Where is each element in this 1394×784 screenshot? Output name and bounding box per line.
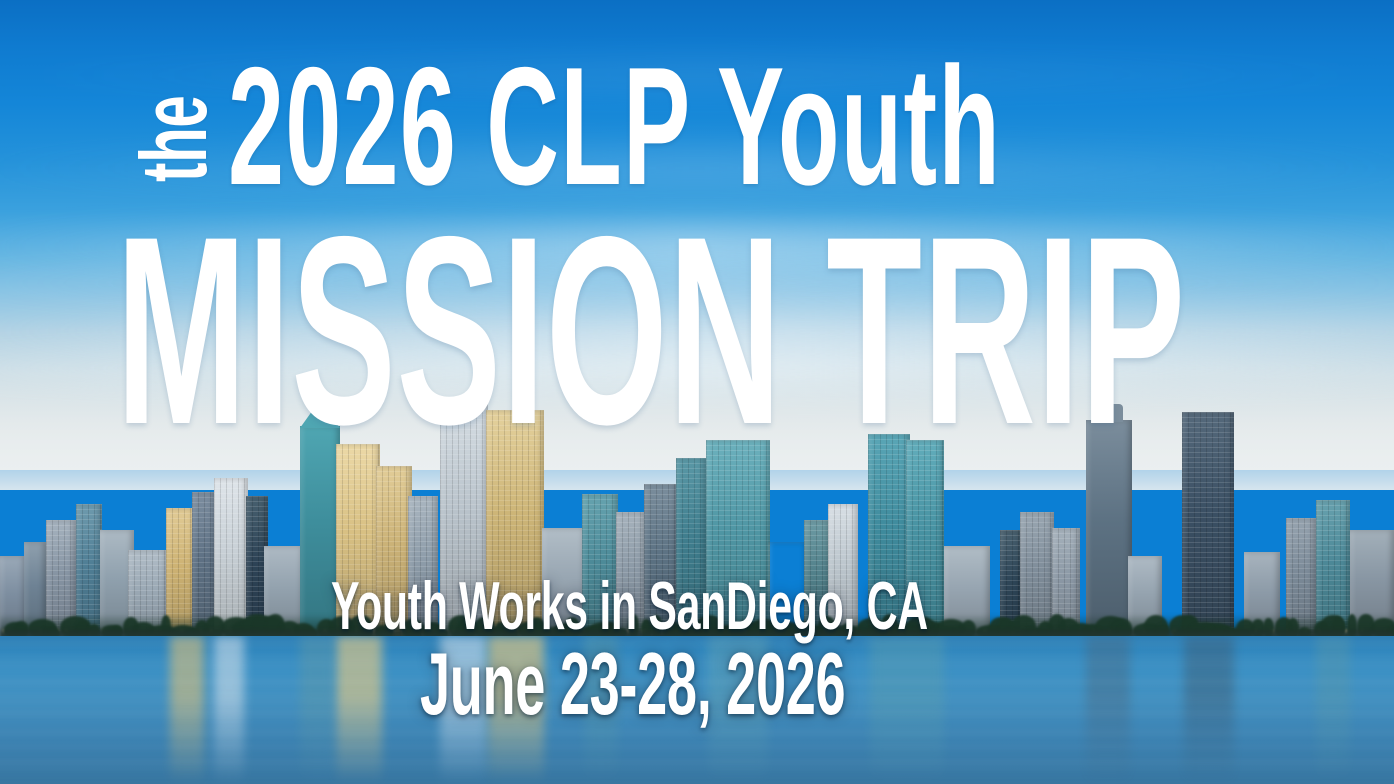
water-ripple <box>0 742 1394 746</box>
water-ripple <box>0 746 1394 749</box>
water-ripple <box>0 769 1394 772</box>
detail-location: Youth Works in SanDiego, CA <box>331 572 928 640</box>
headline-line-2: MISSION TRIP <box>116 196 1186 464</box>
headline-eyebrow: the <box>136 96 211 182</box>
water-ripple <box>0 738 1394 740</box>
detail-dates: June 23-28, 2026 <box>420 640 845 728</box>
water-ripple <box>0 752 1394 756</box>
poster-canvas: the 2026 CLP Youth MISSION TRIP Youth Wo… <box>0 0 1394 784</box>
building-manchester-navy-tower <box>1182 412 1234 640</box>
